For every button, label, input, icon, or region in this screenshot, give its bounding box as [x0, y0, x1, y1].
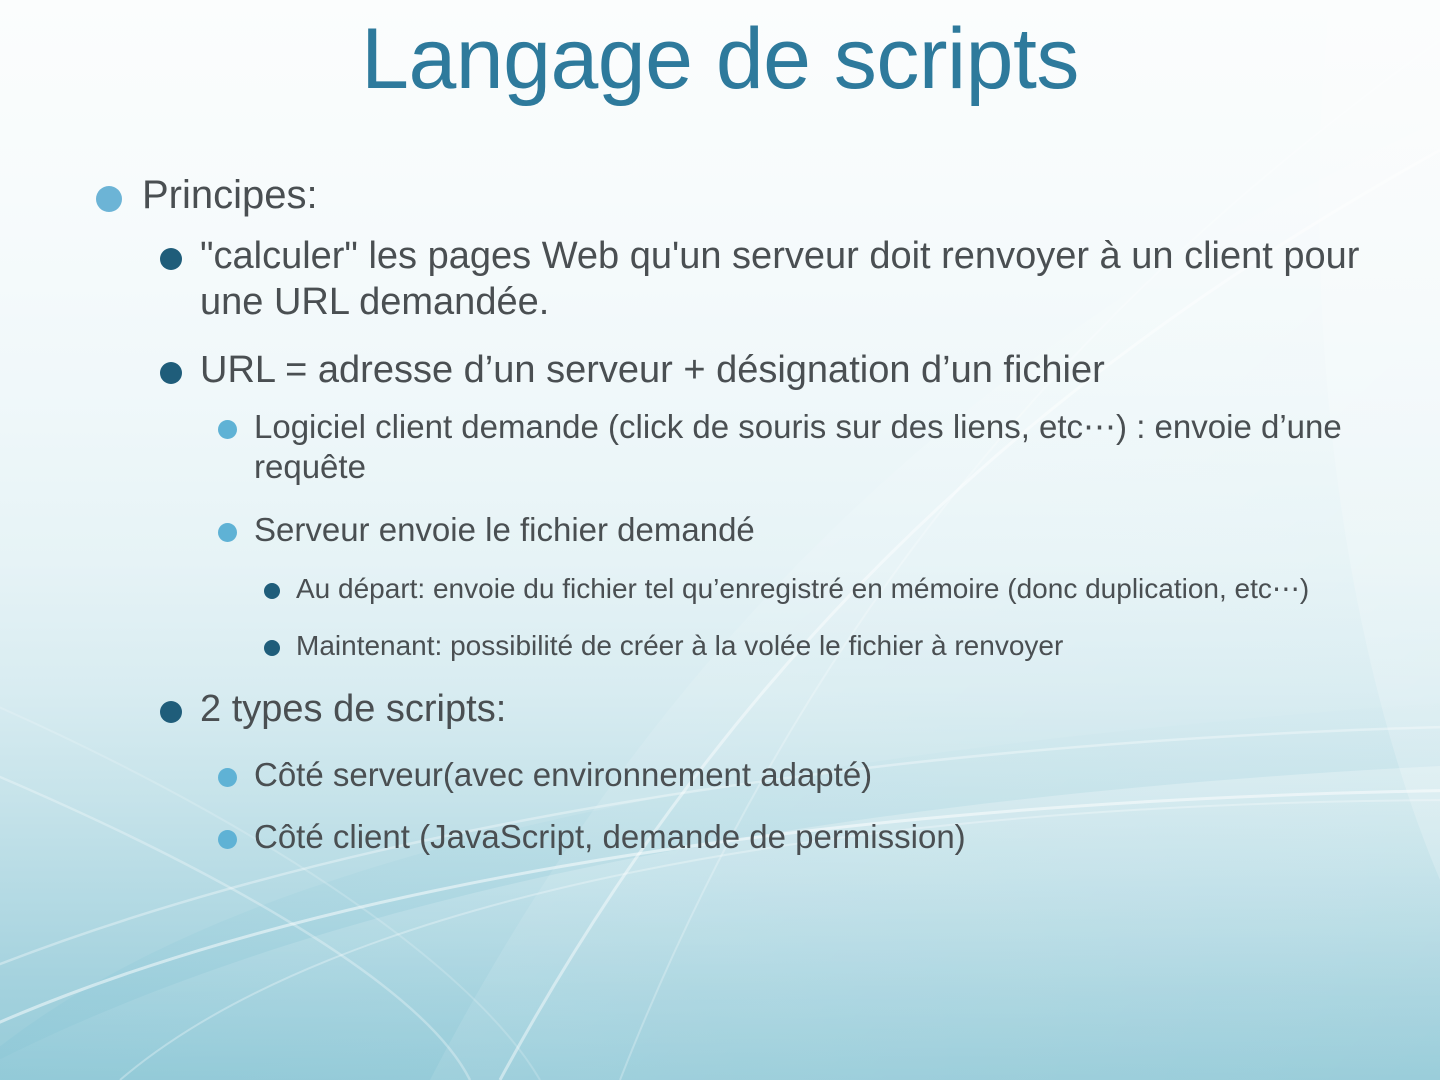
bullet-marker-icon — [160, 362, 182, 384]
bullet-item-level1: Principes: — [96, 172, 1376, 218]
bullet-text: "calculer" les pages Web qu'un serveur d… — [200, 234, 1376, 325]
bullet-marker-icon — [264, 640, 280, 656]
bullet-marker-icon — [160, 701, 182, 723]
bullet-text: Côté client (JavaScript, demande de perm… — [254, 817, 1376, 857]
bullet-text: Maintenant: possibilité de créer à la vo… — [296, 629, 1376, 664]
bullet-item-level3: Côté client (JavaScript, demande de perm… — [218, 817, 1376, 857]
bullet-marker-icon — [96, 186, 122, 212]
bullet-item-level2: 2 types de scripts: — [160, 687, 1376, 733]
bullet-text: Côté serveur(avec environnement adapté) — [254, 755, 1376, 795]
bullet-text: Logiciel client demande (click de souris… — [254, 407, 1376, 488]
bullet-marker-icon — [218, 420, 237, 439]
bullet-text: Principes: — [142, 172, 1376, 218]
bullet-item-level3: Serveur envoie le fichier demandé — [218, 510, 1376, 550]
bullet-text: 2 types de scripts: — [200, 687, 1376, 733]
bullet-text: URL = adresse d’un serveur + désignation… — [200, 348, 1376, 394]
slide-body: Principes: "calculer" les pages Web qu'u… — [96, 172, 1376, 857]
bullet-marker-icon — [160, 248, 182, 270]
bullet-text: Serveur envoie le fichier demandé — [254, 510, 1376, 550]
slide-title: Langage de scripts — [0, 14, 1440, 104]
bullet-item-level2: URL = adresse d’un serveur + désignation… — [160, 348, 1376, 394]
bullet-marker-icon — [218, 768, 237, 787]
bullet-item-level3: Côté serveur(avec environnement adapté) — [218, 755, 1376, 795]
bullet-marker-icon — [264, 583, 280, 599]
slide-canvas: Langage de scripts Principes: "calculer"… — [0, 0, 1440, 1080]
bullet-item-level4: Maintenant: possibilité de créer à la vo… — [264, 629, 1376, 664]
bullet-item-level2: "calculer" les pages Web qu'un serveur d… — [160, 234, 1376, 325]
bullet-item-level4: Au départ: envoie du fichier tel qu’enre… — [264, 572, 1376, 607]
bullet-marker-icon — [218, 523, 237, 542]
bullet-text: Au départ: envoie du fichier tel qu’enre… — [296, 572, 1376, 607]
bullet-item-level3: Logiciel client demande (click de souris… — [218, 407, 1376, 488]
bullet-marker-icon — [218, 830, 237, 849]
